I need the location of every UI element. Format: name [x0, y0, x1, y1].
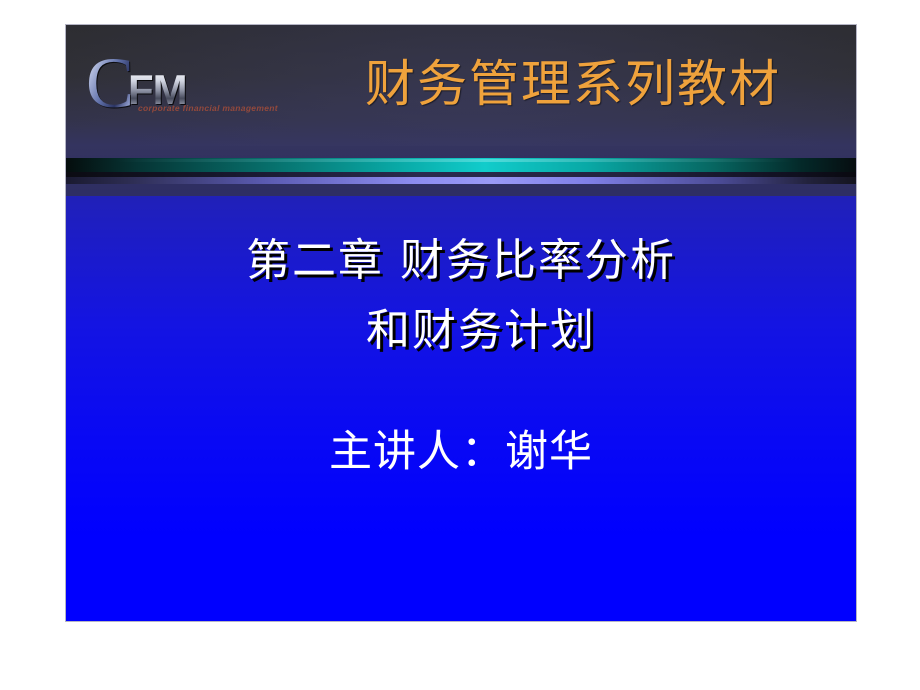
slide-presenter: 主讲人：谢华 — [66, 424, 856, 480]
slide-title-line-2: 和财务计划 — [66, 296, 856, 366]
cfm-logo: C FM corporate financial management — [86, 51, 316, 123]
slide-main-title: 第二章 财务比率分析 和财务计划 — [66, 226, 856, 366]
presentation-slide: C FM corporate financial management 财务管理… — [66, 25, 856, 621]
slide-header-band: C FM corporate financial management 财务管理… — [66, 25, 856, 146]
slide-title-line-1: 第二章 财务比率分析 — [246, 235, 676, 286]
slide-header-content: C FM corporate financial management 财务管理… — [66, 25, 856, 146]
header-series-title: 财务管理系列教材 — [338, 47, 808, 121]
slide-body: 第二章 财务比率分析 和财务计划 主讲人：谢华 — [66, 196, 856, 621]
divider-bar-blue — [66, 177, 856, 184]
divider-bar-teal — [66, 158, 856, 172]
divider-zone — [66, 146, 856, 196]
logo-letter-c: C — [86, 53, 134, 113]
logo-tagline: corporate financial management — [138, 103, 278, 112]
divider-bar-teal-highlight — [66, 159, 856, 162]
page-canvas: C FM corporate financial management 财务管理… — [0, 0, 920, 690]
